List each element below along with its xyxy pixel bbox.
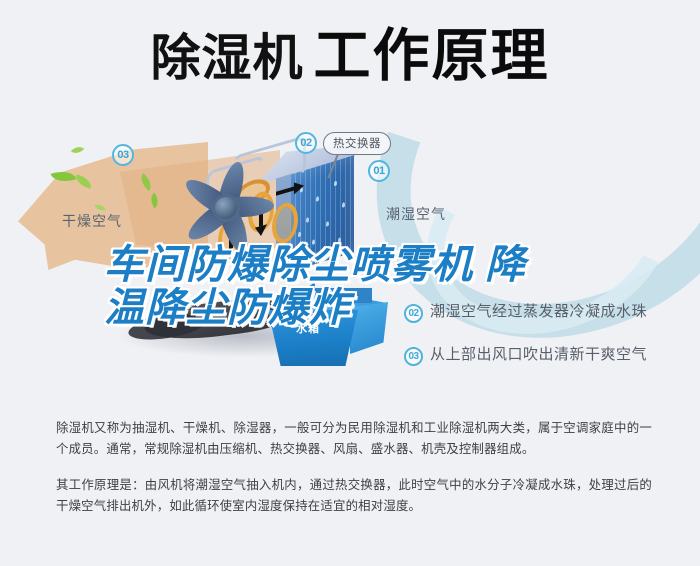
diagram-label-dry-air: 干燥空气 (62, 211, 122, 231)
legend-text-03: 从上部出风口吹出清新干爽空气 (430, 345, 647, 365)
page-title-part1: 除湿机 (151, 30, 304, 86)
diagram-badge-03: 03 (112, 144, 134, 166)
fan-illustration (178, 160, 274, 256)
page-title-part2: 工作原理 (314, 24, 550, 88)
watermark-overlay: 车间防爆除尘喷雾机 降 温降尘防爆炸 (104, 244, 574, 330)
legend-badge-03: 03 (404, 347, 423, 366)
fan-hub (215, 197, 237, 219)
flow-arrow-stem (276, 187, 294, 196)
watermark-line-1: 车间防爆除尘喷雾机 降 (104, 244, 574, 287)
diagram-label-moist-air: 潮湿空气 (386, 204, 446, 224)
leaf-icon (71, 143, 84, 156)
flow-arrow-right-icon (294, 180, 304, 195)
diagram-badge-01: 01 (368, 160, 390, 182)
body-copy: 除湿机又称为抽湿机、干燥机、除湿器，一般可分为民用除湿机和工业除湿机两大类，属于… (56, 418, 652, 517)
diagram-badge-02: 02 (295, 132, 317, 154)
watermark-line-2: 温降尘防爆炸 (104, 287, 574, 330)
diagram-callout-heat-exchanger: 热交换器 (323, 132, 391, 155)
coil-loop (272, 199, 298, 246)
legend-item-03: 03 从上部出风口吹出清新干爽空气 (404, 345, 694, 366)
page-title: 除湿机工作原理 (0, 28, 700, 85)
body-paragraph-2: 其工作原理是：由风机将潮湿空气抽入机内，通过热交换器，此时空气中的水分子冷凝成水… (56, 475, 652, 517)
body-paragraph-1: 除湿机又称为抽湿机、干燥机、除湿器，一般可分为民用除湿机和工业除湿机两大类，属于… (56, 418, 652, 460)
infographic-page: 除湿机工作原理 (0, 0, 700, 566)
